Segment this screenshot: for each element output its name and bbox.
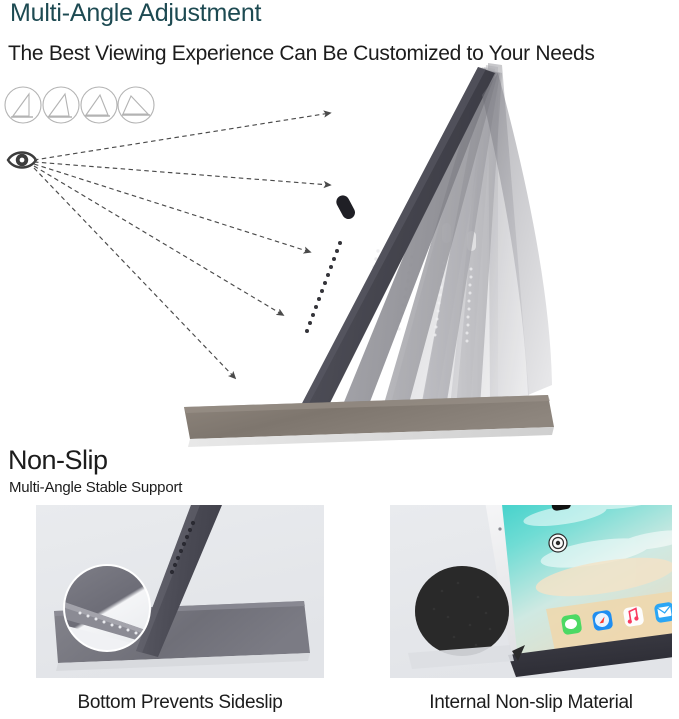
angle-icon-row xyxy=(3,84,155,126)
panel-bottom-prevents-sideslip xyxy=(36,505,324,678)
stand-base xyxy=(184,395,554,447)
angle-icon-1 xyxy=(5,87,41,123)
nonslip-title: Non-Slip xyxy=(8,445,108,476)
caption-internal-non-slip-material: Internal Non-slip Material xyxy=(390,692,672,714)
page-title: Multi-Angle Adjustment xyxy=(10,0,261,28)
dock-icon-safari xyxy=(592,610,614,632)
panel-internal-non-slip-material: tv xyxy=(390,505,672,678)
multi-angle-tablet-stand-illustration xyxy=(150,55,570,455)
angle-icon-2 xyxy=(43,87,79,123)
dock-icon-messages xyxy=(561,614,583,636)
eye-icon xyxy=(6,146,40,174)
nonslip-subtitle: Multi-Angle Stable Support xyxy=(9,479,182,496)
angle-icon-4 xyxy=(118,87,154,123)
caption-bottom-prevents-sideslip: Bottom Prevents Sideslip xyxy=(36,692,324,714)
dock-icon-music xyxy=(623,606,645,628)
product-infographic: Multi-Angle Adjustment The Best Viewing … xyxy=(0,0,679,719)
angle-icon-3 xyxy=(81,87,117,123)
app-icon-photos xyxy=(549,534,567,552)
